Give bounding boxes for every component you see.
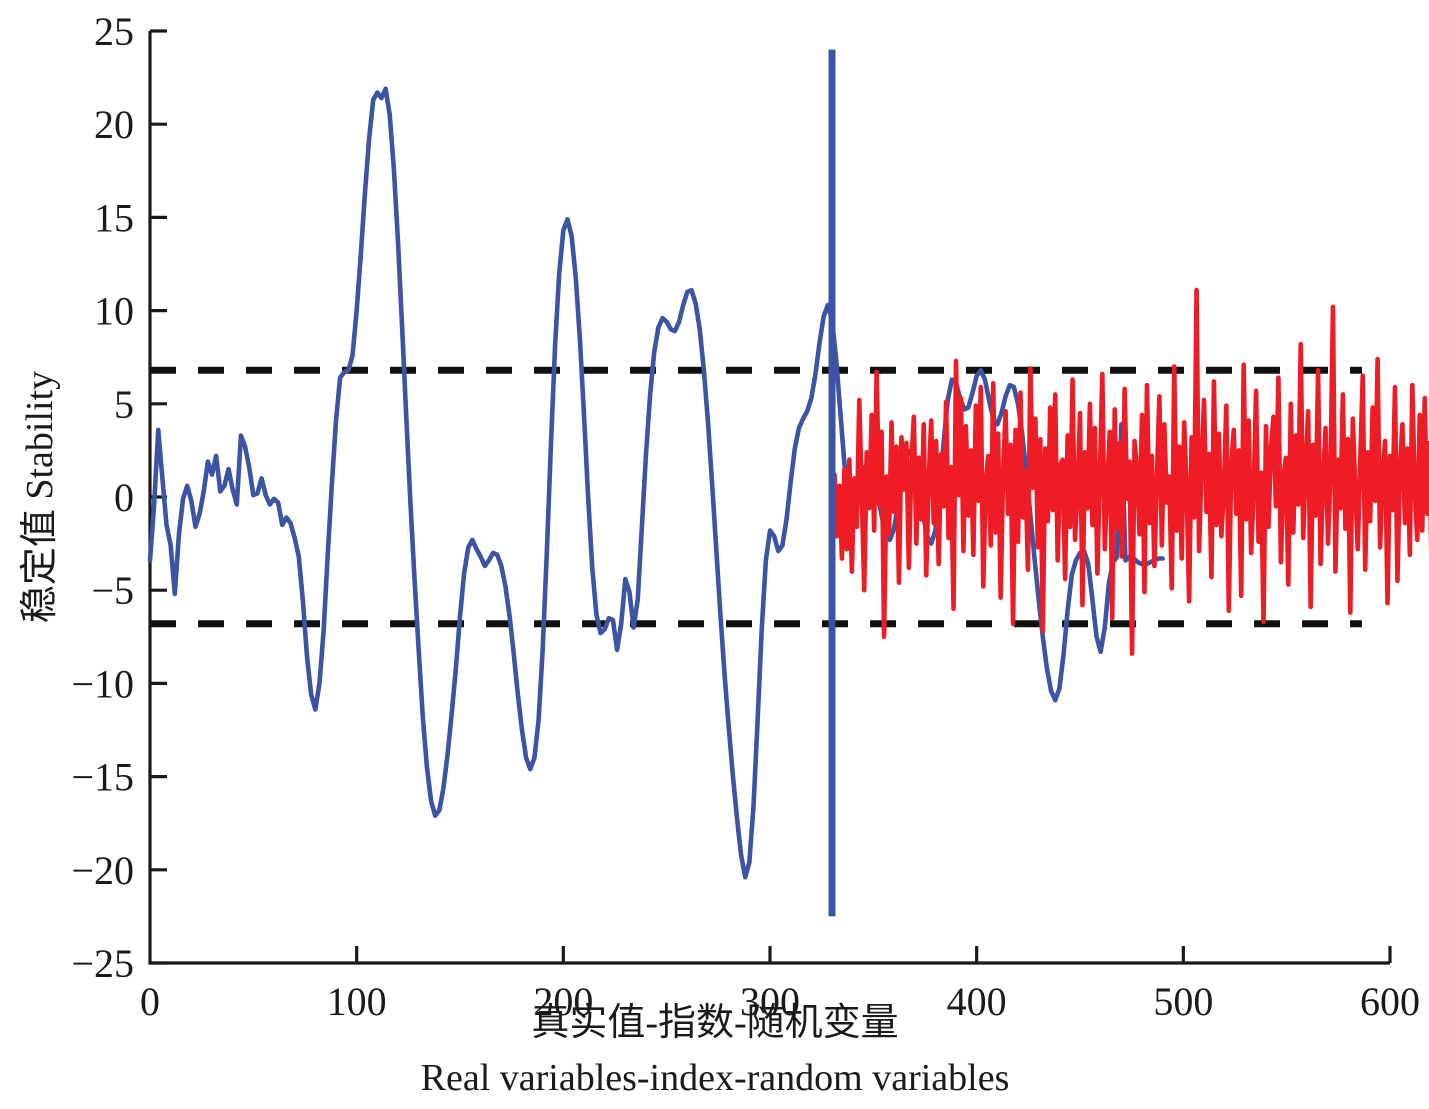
y-tick-label: −20	[71, 848, 134, 893]
x-tick-label: 100	[327, 979, 387, 1024]
x-axis-title-cn: 真实值-指数-随机变量	[531, 1002, 898, 1044]
x-tick-label: 500	[1153, 979, 1213, 1024]
y-tick-label: 20	[94, 102, 134, 147]
y-tick-label: 10	[94, 289, 134, 334]
x-axis-title-en: Real variables-index-random variables	[421, 1057, 1010, 1099]
y-tick-label: −5	[91, 568, 134, 613]
y-tick-label: 25	[94, 9, 134, 54]
y-tick-label: 5	[114, 382, 134, 427]
y-tick-label: 0	[114, 475, 134, 520]
x-tick-label: 400	[947, 979, 1007, 1024]
y-axis-tick-labels: −25−20−15−10−50510152025	[71, 9, 134, 986]
x-tick-label: 600	[1360, 979, 1420, 1024]
stability-line-chart: −25−20−15−10−50510152025 010020030040050…	[0, 0, 1429, 1109]
y-axis-title: 稳定值 Stability	[19, 371, 61, 623]
y-tick-label: −10	[71, 661, 134, 706]
x-tick-label: 0	[140, 979, 160, 1024]
y-tick-label: −15	[71, 755, 134, 800]
y-tick-label: 15	[94, 195, 134, 240]
chart-figure: −25−20−15−10−50510152025 010020030040050…	[0, 0, 1429, 1109]
y-tick-label: −25	[71, 941, 134, 986]
